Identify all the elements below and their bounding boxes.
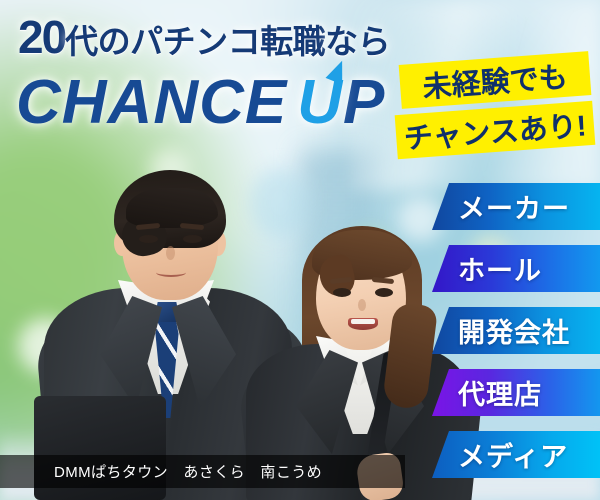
headline-tail: なら <box>325 23 390 60</box>
chance-up-banner: 20代のパチンコ転職なら CHANCEUP 未経験でも チャンスあり! メーカー… <box>0 0 600 500</box>
female-eye-right <box>375 288 393 297</box>
category-button-hall[interactable]: ホール <box>432 245 600 292</box>
category-button-media[interactable]: メディア <box>432 431 600 478</box>
male-mouth <box>156 268 186 277</box>
category-button-maker[interactable]: メーカー <box>432 183 600 230</box>
female-nose <box>358 299 366 311</box>
logo-word-chance: CHANCE <box>16 68 287 137</box>
category-label-media: メディア <box>458 435 568 474</box>
credits-bar: DMMぱちタウン あさくら 南こうめ <box>0 455 405 488</box>
category-button-agency[interactable]: 代理店 <box>432 369 600 416</box>
category-label-development-company: 開発会社 <box>458 311 570 350</box>
female-mouth <box>348 318 378 330</box>
headline-number: 20 <box>18 11 65 63</box>
category-button-development-company[interactable]: 開発会社 <box>432 307 600 354</box>
male-nose <box>166 246 175 260</box>
category-label-agency: 代理店 <box>458 373 542 412</box>
female-eye-left <box>333 288 351 297</box>
male-eye-right <box>183 235 202 243</box>
male-eye-left <box>139 235 158 243</box>
headline-middle: 代のパチンコ転職 <box>65 23 325 60</box>
category-label-maker: メーカー <box>458 187 570 226</box>
credits-text: DMMぱちタウン あさくら 南こうめ <box>54 461 322 482</box>
logo-letter-p: P <box>343 68 385 137</box>
category-label-hall: ホール <box>458 249 542 288</box>
logo-letter-u: U <box>297 68 343 137</box>
female-hair-fringe <box>312 230 412 280</box>
headline: 20代のパチンコ転職なら <box>18 14 390 60</box>
male-hair-fringe <box>126 188 218 228</box>
logo-chance-up: CHANCEUP <box>16 72 385 134</box>
